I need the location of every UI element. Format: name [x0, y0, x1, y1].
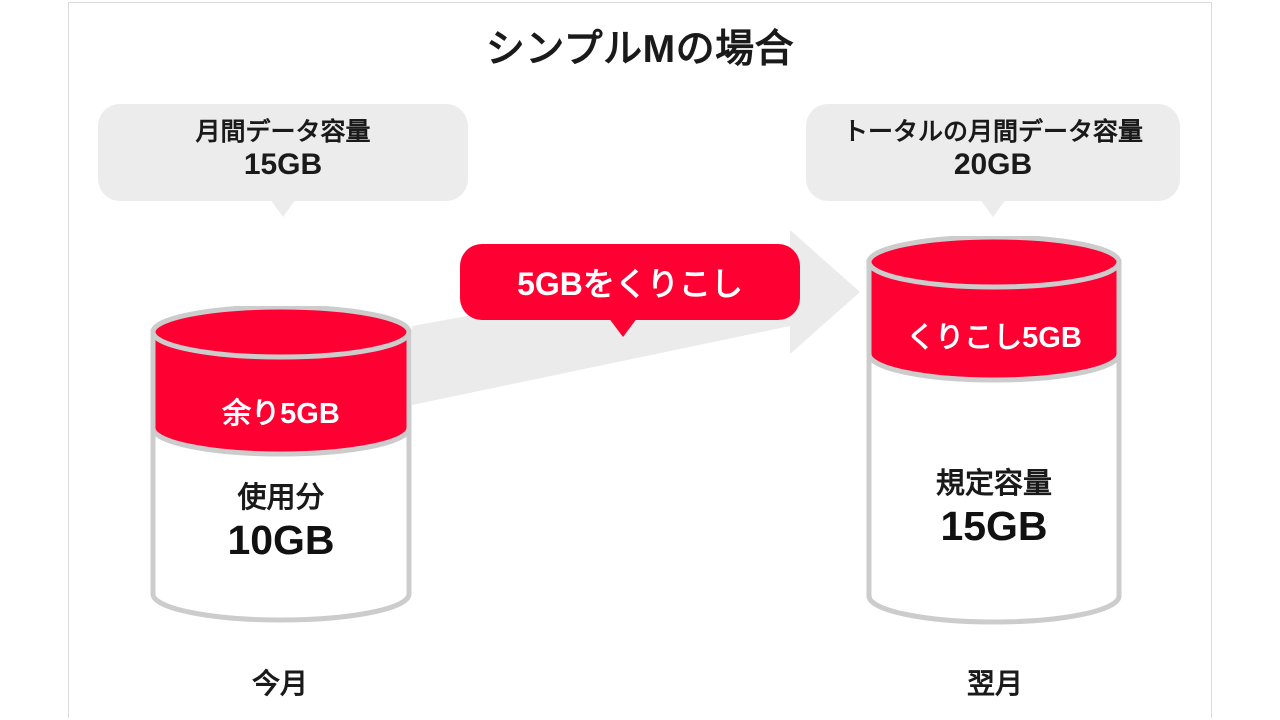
callout-left-tail-icon	[270, 199, 296, 217]
callout-right-total-capacity: トータルの月間データ容量 20GB	[806, 104, 1180, 201]
cylinder-next-month: くりこし5GB 規定容量 15GB	[866, 236, 1122, 636]
callout-left-line1: 月間データ容量	[114, 118, 452, 148]
callout-left-line2: 15GB	[114, 148, 452, 183]
month-label-next-month: 翌月	[868, 662, 1122, 702]
carryover-callout-tail-icon	[608, 317, 638, 337]
carryover-callout-label: 5GBをくりこし	[517, 259, 743, 305]
cylinder-this-month: 余り5GB 使用分 10GB	[150, 306, 412, 634]
carryover-callout-bubble: 5GBをくりこし	[460, 244, 800, 320]
callout-right-tail-icon	[980, 199, 1006, 217]
callout-left-monthly-capacity: 月間データ容量 15GB	[98, 104, 468, 201]
slide-canvas: シンプルMの場合 月間データ容量 15GB トータルの月間データ容量 20GB …	[0, 0, 1280, 720]
page-title: シンプルMの場合	[0, 18, 1280, 74]
callout-right-line2: 20GB	[822, 148, 1164, 183]
callout-right-line1: トータルの月間データ容量	[822, 118, 1164, 148]
month-label-this-month: 今月	[150, 662, 410, 702]
